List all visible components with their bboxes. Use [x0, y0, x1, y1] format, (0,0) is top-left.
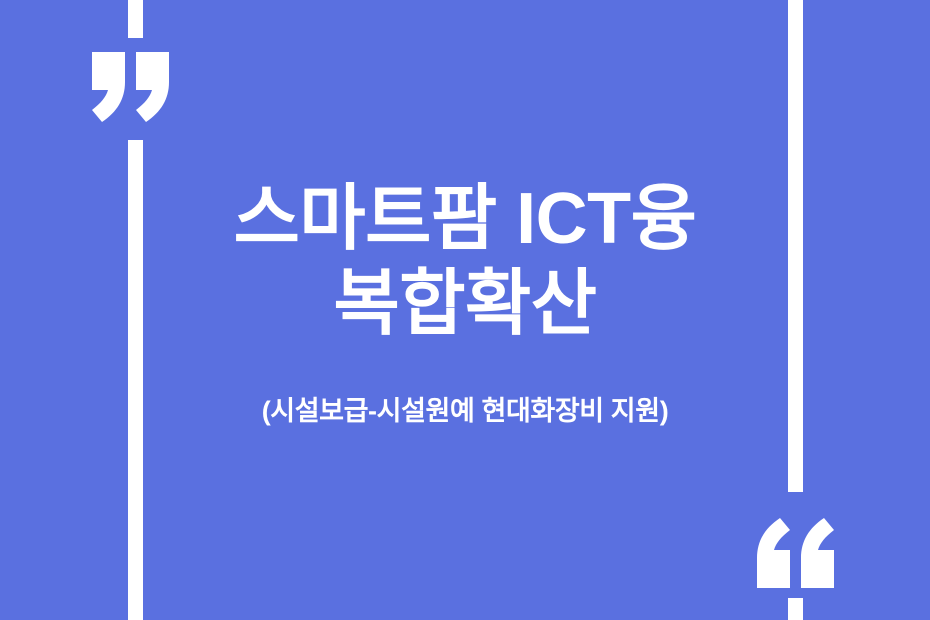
poster-banner: 스마트팜 ICT융 복합확산 (시설보급-시설원예 현대화장비 지원)	[0, 0, 930, 620]
page-title-line-1: 스마트팜 ICT융	[234, 177, 697, 262]
poster-content: 스마트팜 ICT융 복합확산 (시설보급-시설원예 현대화장비 지원)	[0, 0, 930, 620]
page-subtitle: (시설보급-시설원예 현대화장비 지원)	[262, 395, 669, 427]
page-title: 스마트팜 ICT융 복합확산	[234, 177, 697, 347]
page-title-line-2: 복합확산	[234, 262, 697, 347]
